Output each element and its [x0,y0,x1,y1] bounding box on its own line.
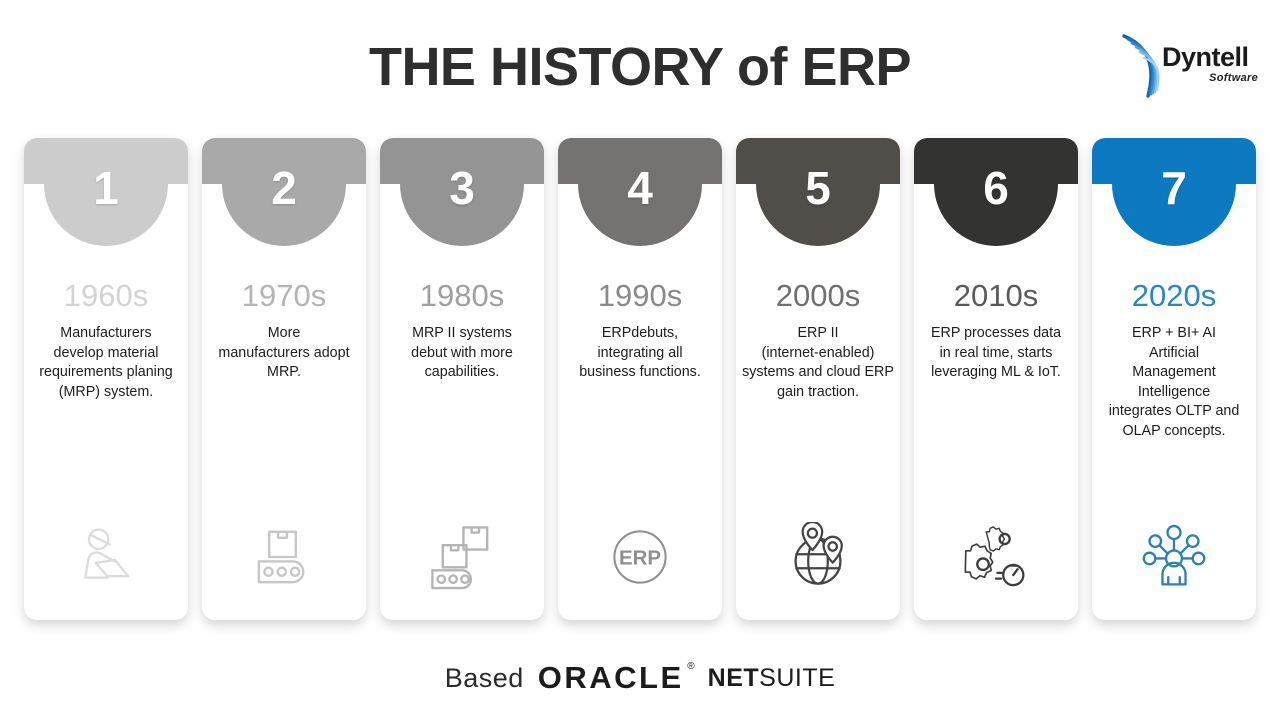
dyntell-logo[interactable]: Dyntell Software [1118,30,1258,102]
timeline-card-2[interactable]: 21970sMore manufacturers adopt MRP. [202,138,366,620]
card-number: 7 [1161,165,1187,211]
ai-network-person-icon [1092,520,1256,594]
card-decade: 2020s [1092,280,1256,311]
gears-with-stopwatch-icon [914,520,1078,594]
card-description: Manufacturers develop material requireme… [30,324,182,402]
card-decade: 1970s [202,280,366,311]
card-number-badge: 6 [934,138,1058,246]
netsuite-wordmark: NETSUITE [698,664,836,693]
card-number: 4 [627,165,653,211]
erp-circle-icon: ERP [558,520,722,594]
card-number: 1 [93,165,119,211]
oracle-label: ORACLE [538,660,684,695]
timeline-card-3[interactable]: 31980sMRP II systems debut with more cap… [380,138,544,620]
timeline-card-5[interactable]: 52000sERP II (internet-enabled) systems … [736,138,900,620]
timeline-card-4[interactable]: 41990sERPdebuts, integrating all busines… [558,138,722,620]
page-title: THE HISTORY of ERP [0,38,1280,97]
card-number-badge: 2 [222,138,346,246]
globe-with-location-pins-icon [736,520,900,594]
footer-based-label: Based [445,663,524,694]
card-description: More manufacturers adopt MRP. [208,324,360,383]
oracle-wordmark: ORACLE® [538,660,684,696]
card-decade: 1960s [24,280,188,311]
card-description: MRP II systems debut with more capabilit… [386,324,538,383]
timeline-card-7[interactable]: 72020sERP + BI+ AI Artificial Management… [1092,138,1256,620]
timeline-card-1[interactable]: 11960sManufacturers develop material req… [24,138,188,620]
card-number: 5 [805,165,831,211]
card-number-badge: 3 [400,138,524,246]
netsuite-prefix: NET [708,664,760,692]
box-on-conveyor-icon [202,520,366,594]
timeline-card-6[interactable]: 62010sERP processes data in real time, s… [914,138,1078,620]
card-description: ERP + BI+ AI Artificial Management Intel… [1098,324,1250,441]
card-description: ERP processes data in real time, starts … [920,324,1072,383]
card-decade: 1980s [380,280,544,311]
blue-wave-arcs-icon [1118,32,1162,100]
card-description: ERPdebuts, integrating all business func… [564,324,716,383]
card-number-badge: 7 [1112,138,1236,246]
logo-name: Dyntell [1162,44,1258,71]
card-number: 3 [449,165,475,211]
footer-attribution: Based ORACLE® NETSUITE [0,660,1280,696]
engineer-at-drafting-board-icon [24,520,188,594]
card-number: 6 [983,165,1009,211]
timeline-cards: 11960sManufacturers develop material req… [24,138,1258,620]
card-description: ERP II (internet-enabled) systems and cl… [742,324,894,402]
netsuite-suffix: SUITE [759,664,835,692]
registered-mark: ® [687,661,694,672]
card-number-badge: 1 [44,138,168,246]
card-decade: 1990s [558,280,722,311]
card-number-badge: 5 [756,138,880,246]
svg-text:ERP: ERP [619,547,661,570]
two-boxes-on-conveyor-icon [380,520,544,594]
slide-canvas: THE HISTORY of ERP Dyntell Software 1196… [0,0,1280,720]
card-number-badge: 4 [578,138,702,246]
card-decade: 2010s [914,280,1078,311]
logo-subtitle: Software [1162,72,1258,84]
card-number: 2 [271,165,297,211]
card-decade: 2000s [736,280,900,311]
